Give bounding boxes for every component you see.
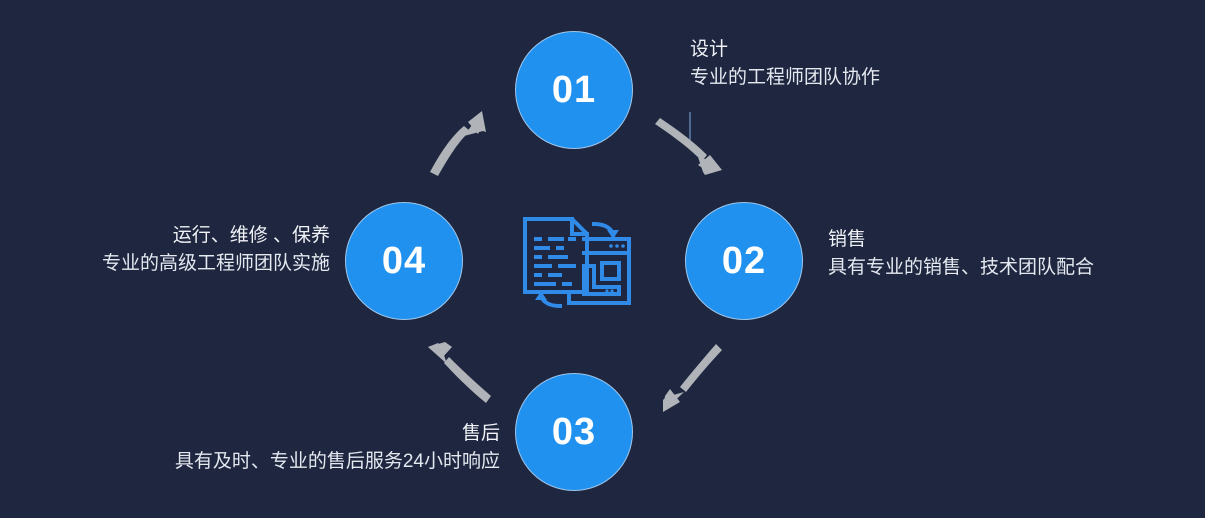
step-label-01: 设计 专业的工程师团队协作	[690, 36, 880, 91]
document-browser-sync-icon	[512, 208, 642, 328]
step-number-03: 03	[552, 413, 596, 451]
step-number-02: 02	[722, 242, 766, 280]
step-label-03: 售后 具有及时、专业的售后服务24小时响应	[120, 420, 500, 475]
arrow-04-to-01	[430, 111, 486, 176]
step-description-01: 专业的工程师团队协作	[690, 64, 880, 92]
step-circle-02[interactable]: 02	[685, 202, 803, 320]
step-label-02: 销售 具有专业的销售、技术团队配合	[828, 226, 1094, 281]
step-title-01: 设计	[690, 36, 880, 64]
arrow-03-to-04	[428, 342, 491, 403]
document-page-shape	[525, 219, 587, 292]
step-circle-03[interactable]: 03	[515, 373, 633, 491]
step-circle-01[interactable]: 01	[515, 31, 633, 149]
step-title-04: 运行、维修 、保养	[0, 222, 330, 250]
step-description-04: 专业的高级工程师团队实施	[0, 250, 330, 278]
step-number-04: 04	[382, 242, 426, 280]
step-label-04: 运行、维修 、保养 专业的高级工程师团队实施	[0, 222, 330, 277]
step-circle-04[interactable]: 04	[345, 202, 463, 320]
arrow-02-to-03	[663, 344, 722, 412]
step-title-03: 售后	[120, 420, 500, 448]
step-title-02: 销售	[828, 226, 1094, 254]
step-number-01: 01	[552, 71, 596, 109]
arrow-01-to-02	[655, 118, 722, 175]
sync-arrow-top-right-icon	[594, 224, 619, 239]
process-cycle-diagram: 01 02 03 04 设计 专业的工程师团队协作 销售 具有专业的销售、技术团…	[0, 0, 1205, 518]
step-description-02: 具有专业的销售、技术团队配合	[828, 254, 1094, 282]
step-description-03: 具有及时、专业的售后服务24小时响应	[120, 448, 500, 476]
